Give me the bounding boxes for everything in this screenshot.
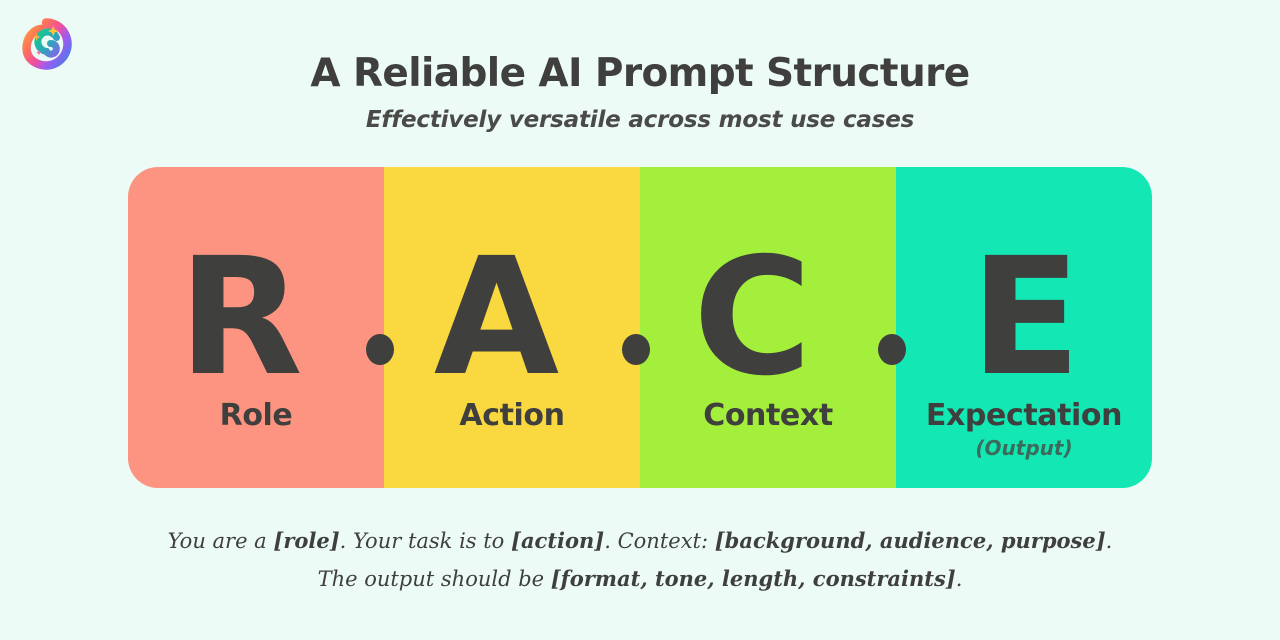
separator-dot-1: [366, 334, 394, 365]
race-panel-expectation[interactable]: E Expectation (Output): [896, 167, 1152, 488]
caption-text: . Context:: [604, 529, 715, 553]
prompt-template-caption: You are a [role]. Your task is to [actio…: [0, 522, 1280, 598]
race-label-context: Context: [640, 399, 896, 433]
race-acronym-bar: R Role A Action C Context E Expectation …: [128, 167, 1152, 488]
caption-line-1: You are a [role]. Your task is to [actio…: [0, 522, 1280, 560]
caption-text: You are a: [168, 529, 274, 553]
caption-text: The output should be: [318, 567, 551, 591]
page-title: A Reliable AI Prompt Structure: [0, 48, 1280, 100]
race-panel-context[interactable]: C Context: [640, 167, 896, 488]
caption-placeholder-action: [action]: [511, 528, 604, 553]
race-letter-e: E: [896, 237, 1152, 399]
caption-placeholder-context: [background, audience, purpose]: [715, 528, 1106, 553]
race-letter-r: R: [128, 237, 384, 399]
caption-text: .: [1106, 529, 1113, 553]
caption-text: .: [956, 567, 963, 591]
header: A Reliable AI Prompt Structure Effective…: [0, 48, 1280, 140]
separator-dot-3: [878, 334, 906, 365]
separator-dot-2: [622, 334, 650, 365]
race-panel-action[interactable]: A Action: [384, 167, 640, 488]
caption-placeholder-output: [format, tone, length, constraints]: [551, 566, 956, 591]
caption-placeholder-role: [role]: [273, 528, 339, 553]
race-label-action: Action: [384, 399, 640, 433]
race-letter-c: C: [640, 237, 896, 399]
page-subtitle: Effectively versatile across most use ca…: [0, 100, 1280, 140]
race-panel-role[interactable]: R Role: [128, 167, 384, 488]
race-letter-a: A: [384, 237, 640, 399]
caption-text: . Your task is to: [340, 529, 511, 553]
race-label-expectation: Expectation: [896, 399, 1152, 433]
race-sublabel-output: (Output): [896, 436, 1152, 460]
race-label-role: Role: [128, 399, 384, 433]
caption-line-2: The output should be [format, tone, leng…: [0, 560, 1280, 598]
